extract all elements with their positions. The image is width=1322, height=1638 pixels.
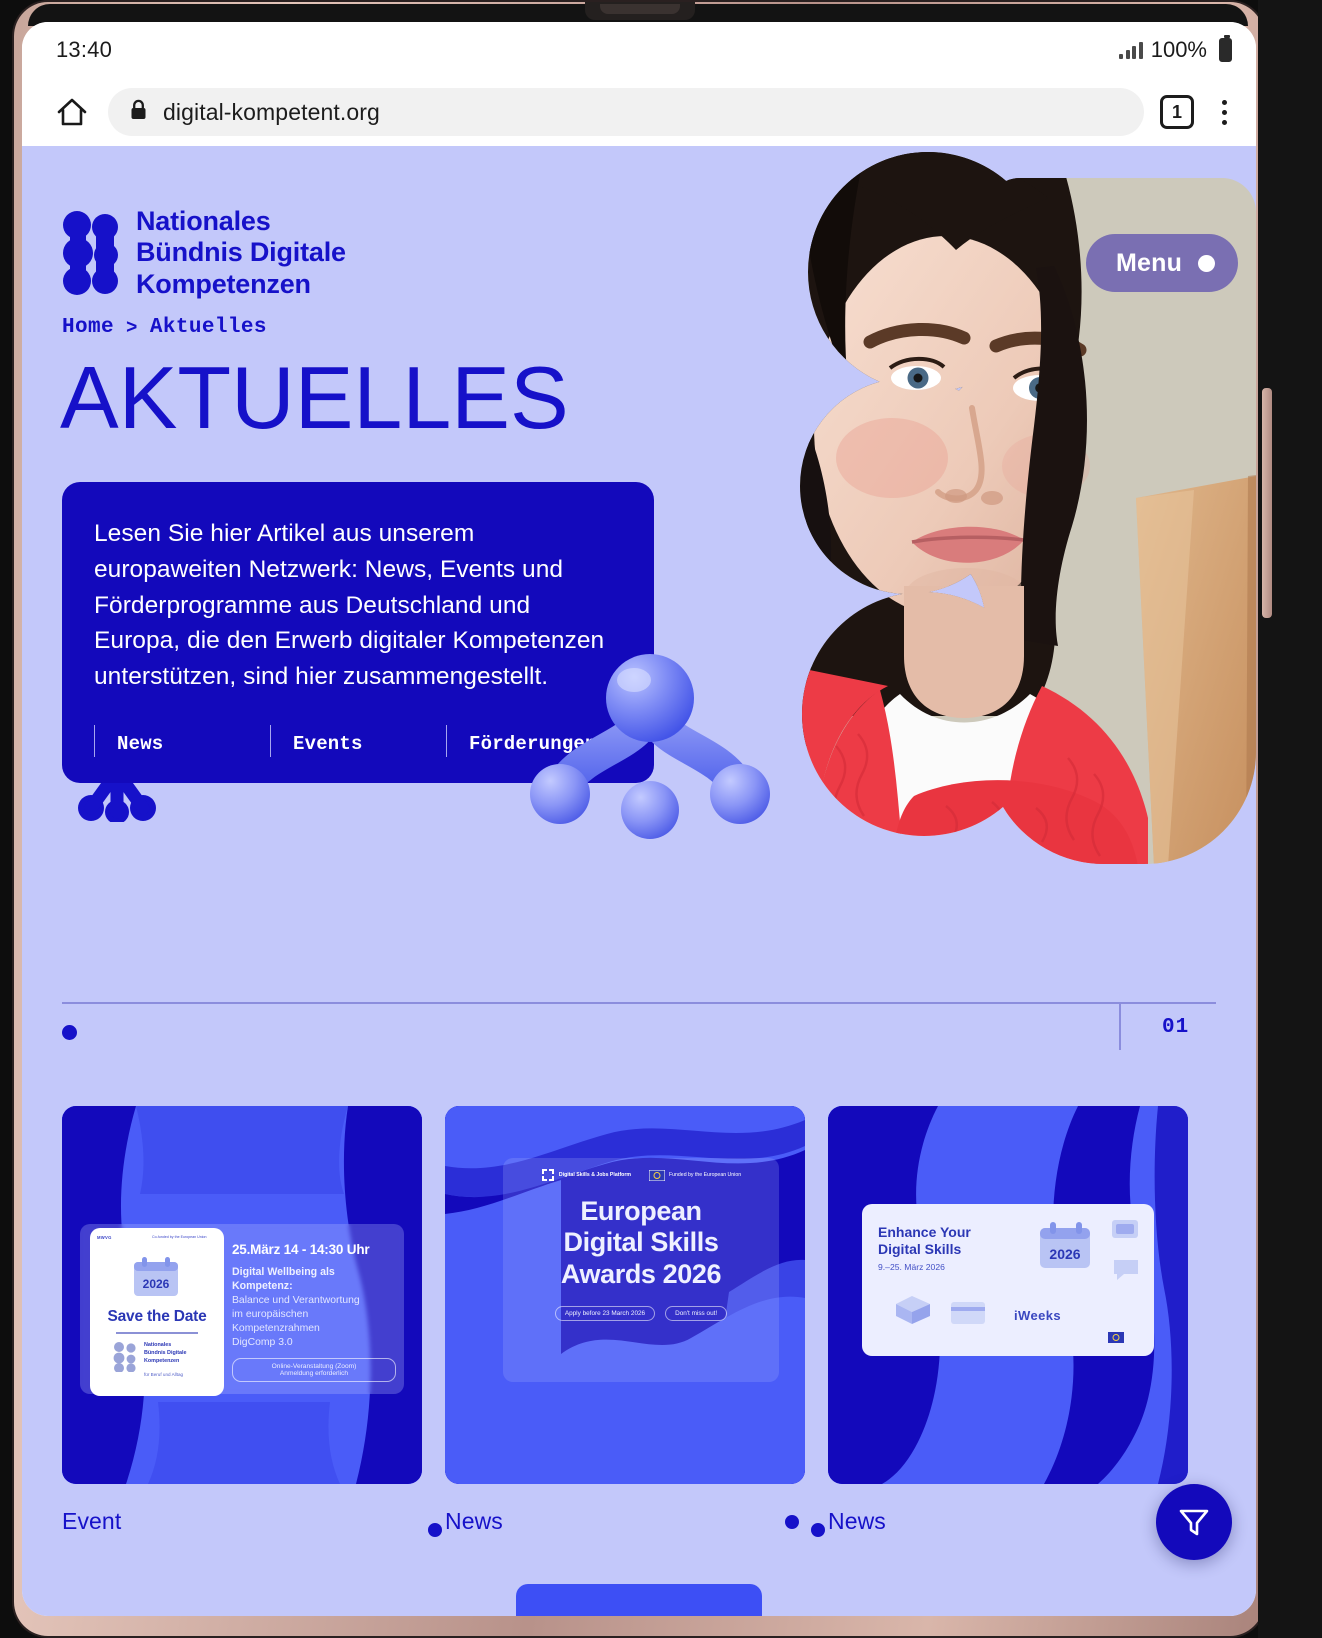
chat-illustration-icon (1110, 1256, 1142, 1284)
card-meta: News (445, 1508, 805, 1535)
breadcrumb: Home > Aktuelles (62, 316, 267, 339)
tab-events[interactable]: Events (270, 725, 446, 757)
card-thumbnail[interactable]: Digital Skills & Jobs Platform Funded by… (445, 1106, 805, 1484)
card-poster: MWVG Co-funded by the European Union 202… (90, 1228, 224, 1396)
browser-toolbar: digital-kompetent.org 1 (22, 78, 1256, 146)
card-illustration-icon (948, 1296, 990, 1328)
site-logo-text: Nationales Bündnis Digitale Kompetenzen (136, 206, 346, 300)
card-thumbnail[interactable]: MWVG Co-funded by the European Union 202… (62, 1106, 422, 1484)
preview-logo-right: Funded by the European Union (669, 1172, 741, 1179)
eu-funding-logo-icon (1108, 1332, 1142, 1346)
poster-brand-tag: für Beruf und Alltag (144, 1372, 183, 1377)
filter-button[interactable] (1156, 1484, 1232, 1560)
article-card[interactable]: Enhance Your Digital Skills 9.–25. März … (828, 1106, 1188, 1535)
preview-title-2: Kompetenz: (232, 1280, 396, 1294)
card-dot-icon (785, 1515, 799, 1529)
poster-headline: Save the Date (90, 1308, 224, 1326)
poster-brand-3: Kompetenzen (144, 1358, 179, 1365)
molecule-3d-icon (530, 652, 770, 844)
card-category: Event (62, 1508, 121, 1535)
preview-logo-row: Digital Skills & Jobs Platform Funded by… (503, 1168, 779, 1182)
preview-body-1: Balance und Verantwortung (232, 1294, 396, 1308)
status-clock: 13:40 (56, 37, 112, 63)
web-page-content: Menu (22, 146, 1256, 1616)
phone-screen: 13:40 100% digital-kompetent.org 1 (22, 22, 1256, 1616)
poster-brand-2: Bündnis Digitale (144, 1350, 187, 1357)
bottom-card-peek (516, 1584, 762, 1616)
pagination-divider (1119, 1002, 1121, 1050)
card-dot-icon (428, 1523, 442, 1537)
filter-funnel-icon (1177, 1506, 1211, 1538)
article-card[interactable]: Digital Skills & Jobs Platform Funded by… (445, 1106, 805, 1535)
menu-button-label: Menu (1116, 249, 1182, 278)
logo-line-3: Kompetenzen (136, 269, 346, 300)
device-hinge-inner (600, 4, 680, 14)
svg-text:2026: 2026 (1049, 1246, 1080, 1262)
preview-body-2: im europäischen (232, 1308, 396, 1322)
preview-date-range: 9.–25. März 2026 (878, 1262, 945, 1272)
status-bar: 13:40 100% (22, 22, 1256, 78)
brand-dots-icon (62, 211, 118, 295)
eu-flag-icon (649, 1170, 665, 1181)
article-card-list: MWVG Co-funded by the European Union 202… (22, 1106, 1256, 1616)
preview-cta[interactable]: Online-Veranstaltung (Zoom) Anmeldung er… (232, 1358, 396, 1382)
kebab-menu-icon[interactable] (1210, 100, 1238, 125)
preview-title-1: European (503, 1196, 779, 1227)
breadcrumb-current: Aktuelles (150, 316, 267, 339)
card-thumbnail[interactable]: Enhance Your Digital Skills 9.–25. März … (828, 1106, 1188, 1484)
poster-divider (116, 1332, 198, 1334)
preview-title-1: Enhance Your (878, 1224, 971, 1241)
preview-body-4: DigComp 3.0 (232, 1336, 396, 1350)
preview-title-2: Digital Skills (878, 1241, 961, 1258)
url-text[interactable]: digital-kompetent.org (163, 99, 380, 126)
card-meta: Event (62, 1508, 422, 1535)
menu-button[interactable]: Menu (1086, 234, 1238, 292)
card-category: News (828, 1508, 886, 1535)
logo-line-2: Bündnis Digitale (136, 237, 346, 268)
device-illustration-icon (1108, 1216, 1142, 1244)
poster-brand-1: Nationales (144, 1342, 171, 1349)
preview-brand: iWeeks (1014, 1308, 1061, 1323)
card-preview-text: 25.März 14 - 14:30 Uhr Digital Wellbeing… (232, 1242, 396, 1382)
tab-counter-button[interactable]: 1 (1160, 95, 1194, 129)
preview-date: 25.März 14 - 14:30 Uhr (232, 1242, 396, 1257)
poster-partner-left: MWVG (97, 1235, 112, 1240)
preview-title-2: Digital Skills (503, 1227, 779, 1258)
preview-body-3: Kompetenzrahmen (232, 1322, 396, 1336)
svg-text:2026: 2026 (143, 1277, 170, 1291)
chevron-right-icon: > (126, 317, 138, 339)
card-meta: News (828, 1508, 1188, 1535)
box-illustration-icon (890, 1292, 936, 1326)
breadcrumb-home-link[interactable]: Home (62, 316, 114, 339)
preview-title-3: Awards 2026 (503, 1259, 779, 1290)
url-bar[interactable]: digital-kompetent.org (108, 88, 1144, 136)
preview-chip-row: Apply before 23 March 2026 Don't miss ou… (503, 1306, 779, 1321)
page-title: AKTUELLES (60, 354, 569, 442)
status-indicators: 100% (1119, 37, 1232, 63)
card-dot-icon (811, 1523, 825, 1537)
preview-cta-line-2: Anmeldung erforderlich (239, 1370, 389, 1377)
battery-full-icon (1219, 38, 1232, 62)
pagination-track[interactable] (62, 1002, 1154, 1004)
pagination-track-right (1120, 1002, 1216, 1004)
carousel-pagination: 01 (22, 1002, 1256, 1106)
menu-dot-icon (1198, 255, 1215, 272)
preview-cta-line-1: Online-Veranstaltung (Zoom) (239, 1363, 389, 1370)
pagination-page-number: 01 (1162, 1016, 1189, 1039)
logo-line-1: Nationales (136, 206, 346, 237)
battery-percent-label: 100% (1151, 37, 1207, 63)
poster-partner-right: Co-funded by the European Union (152, 1235, 216, 1239)
card-preview-panel: Enhance Your Digital Skills 9.–25. März … (862, 1204, 1154, 1356)
preview-title-1: Digital Wellbeing als (232, 1266, 396, 1280)
tab-news[interactable]: News (94, 725, 270, 757)
calendar-illustration-icon: 2026 (1032, 1218, 1098, 1272)
device-side-button[interactable] (1262, 388, 1272, 618)
card-preview-text: Digital Skills & Jobs Platform Funded by… (503, 1168, 779, 1321)
hero-section: Menu (22, 146, 1256, 1106)
device-frame: 13:40 100% digital-kompetent.org 1 (0, 0, 1322, 1638)
article-card[interactable]: MWVG Co-funded by the European Union 202… (62, 1106, 422, 1535)
progress-dot-icon[interactable] (62, 1025, 77, 1040)
device-right-edge (1258, 0, 1322, 1638)
preview-logo-left: Digital Skills & Jobs Platform (559, 1172, 631, 1179)
home-icon[interactable] (52, 92, 92, 132)
card-category: News (445, 1508, 503, 1535)
preview-chip-right[interactable]: Don't miss out! (665, 1306, 727, 1321)
lock-icon (130, 99, 147, 125)
signal-bars-icon (1119, 42, 1143, 59)
preview-chip-left[interactable]: Apply before 23 March 2026 (555, 1306, 655, 1321)
digital-skills-logo-icon (541, 1168, 555, 1182)
site-logo[interactable]: Nationales Bündnis Digitale Kompetenzen (62, 206, 346, 300)
